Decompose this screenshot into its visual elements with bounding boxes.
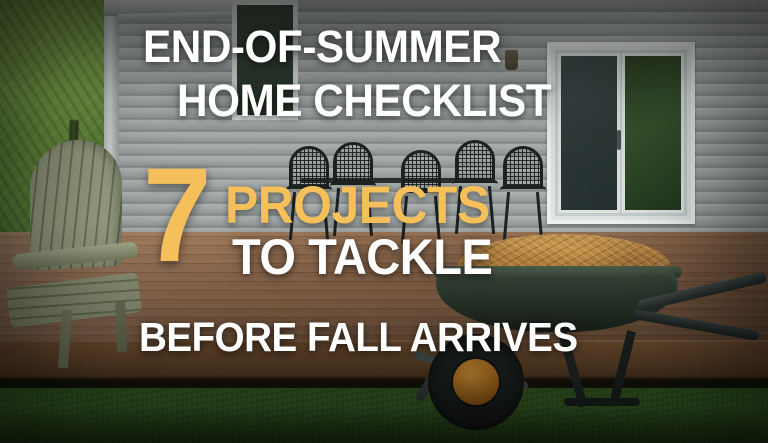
patio-chair-leg — [488, 186, 495, 234]
wheelbarrow-wheel — [428, 334, 524, 430]
patio-chair-back — [455, 140, 495, 182]
patio-chair-leg — [366, 188, 373, 236]
door-pane-right — [622, 53, 684, 213]
door-handle — [617, 130, 621, 150]
patio-chair — [330, 142, 376, 236]
chair-leg-back — [115, 300, 127, 352]
patio-chair — [398, 150, 444, 244]
background-photo — [0, 0, 768, 443]
wheelbarrow-leg — [609, 330, 636, 406]
patio-chair — [452, 140, 498, 234]
patio-chair-leg — [536, 192, 543, 240]
patio-chair-back — [289, 146, 329, 188]
poster-graphic: END-OF-SUMMER HOME CHECKLIST 7 PROJECTS … — [0, 0, 768, 443]
patio-chair-leg — [289, 192, 296, 240]
patio-chair-leg — [401, 196, 408, 244]
wheelbarrow — [418, 258, 768, 436]
house-window — [232, 0, 298, 120]
patio-chair-back — [503, 146, 543, 188]
patio-chair — [500, 146, 546, 240]
patio-chair-back — [333, 142, 373, 184]
door-pane-left — [558, 53, 620, 213]
patio-chair — [286, 146, 332, 240]
wheelbarrow-leg — [557, 328, 588, 407]
patio-chair-leg — [333, 188, 340, 236]
patio-chair-leg — [503, 192, 510, 240]
sliding-glass-door — [547, 42, 695, 224]
patio-chair-back — [401, 150, 441, 192]
wall-lamp-icon — [505, 50, 518, 70]
patio-chair-leg — [434, 196, 441, 244]
wheelbarrow-handle — [632, 309, 760, 341]
patio-chair-leg — [322, 192, 329, 240]
adirondack-chair — [8, 140, 148, 340]
wheelbarrow-leg-brace — [564, 398, 640, 406]
patio-chair-leg — [455, 186, 462, 234]
